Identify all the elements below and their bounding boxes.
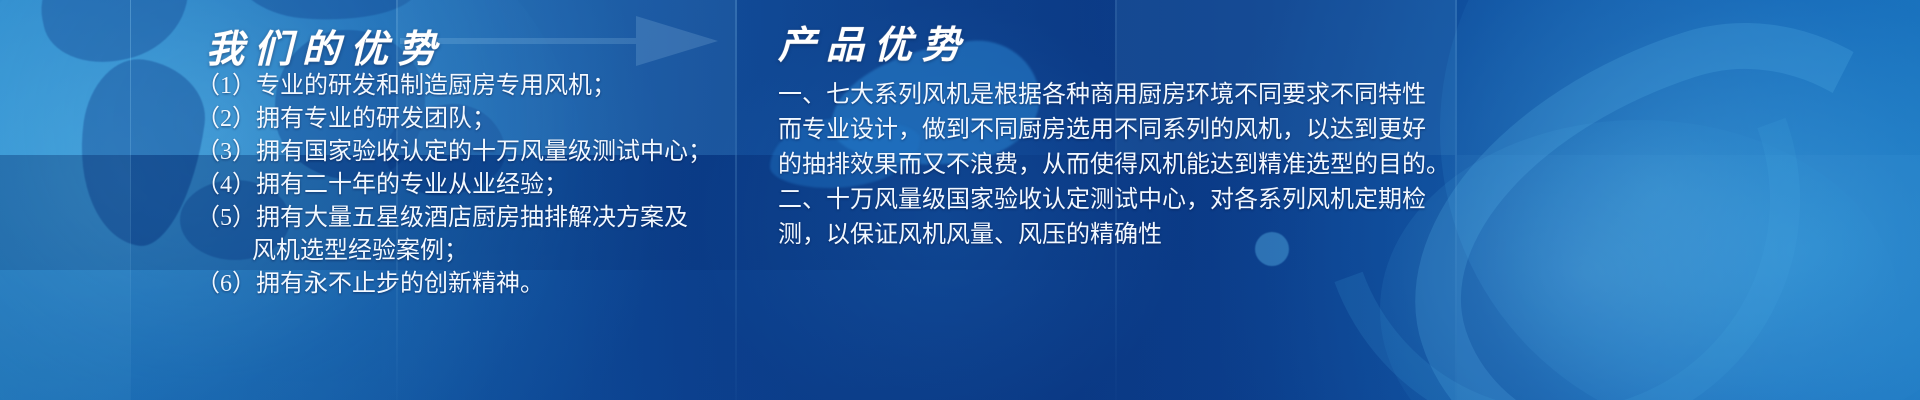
list-item: （5）拥有大量五星级酒店厨房抽排解决方案及 bbox=[196, 202, 712, 235]
paragraph-line: 一、七大系列风机是根据各种商用厨房环境不同要求不同特性 bbox=[778, 78, 1478, 113]
banner-content: 我们的优势 （1）专业的研发和制造厨房专用风机； （2）拥有专业的研发团队； （… bbox=[0, 0, 1920, 400]
paragraph-line: 的抽排效果而又不浪费，从而使得风机能达到精准选型的目的。 bbox=[778, 148, 1478, 183]
right-advantages-paragraphs: 一、七大系列风机是根据各种商用厨房环境不同要求不同特性 而专业设计，做到不同厨房… bbox=[778, 78, 1478, 253]
right-panel-title: 产品优势 bbox=[778, 14, 970, 69]
list-item: （2）拥有专业的研发团队； bbox=[196, 103, 712, 136]
list-item: （3）拥有国家验收认定的十万风量级测试中心； bbox=[196, 136, 712, 169]
left-panel-title: 我们的优势 bbox=[206, 18, 446, 73]
list-item-continuation: 风机选型经验案例； bbox=[196, 235, 712, 268]
list-item: （1）专业的研发和制造厨房专用风机； bbox=[196, 70, 712, 103]
promo-banner: 我们的优势 （1）专业的研发和制造厨房专用风机； （2）拥有专业的研发团队； （… bbox=[0, 0, 1920, 400]
left-advantages-list: （1）专业的研发和制造厨房专用风机； （2）拥有专业的研发团队； （3）拥有国家… bbox=[196, 70, 712, 301]
list-item: （4）拥有二十年的专业从业经验； bbox=[196, 169, 712, 202]
list-item: （6）拥有永不止步的创新精神。 bbox=[196, 268, 712, 301]
paragraph-line: 而专业设计，做到不同厨房选用不同系列的风机，以达到更好 bbox=[778, 113, 1478, 148]
paragraph-line: 测，以保证风机风量、风压的精确性 bbox=[778, 218, 1478, 253]
paragraph-line: 二、十万风量级国家验收认定测试中心，对各系列风机定期检 bbox=[778, 183, 1478, 218]
